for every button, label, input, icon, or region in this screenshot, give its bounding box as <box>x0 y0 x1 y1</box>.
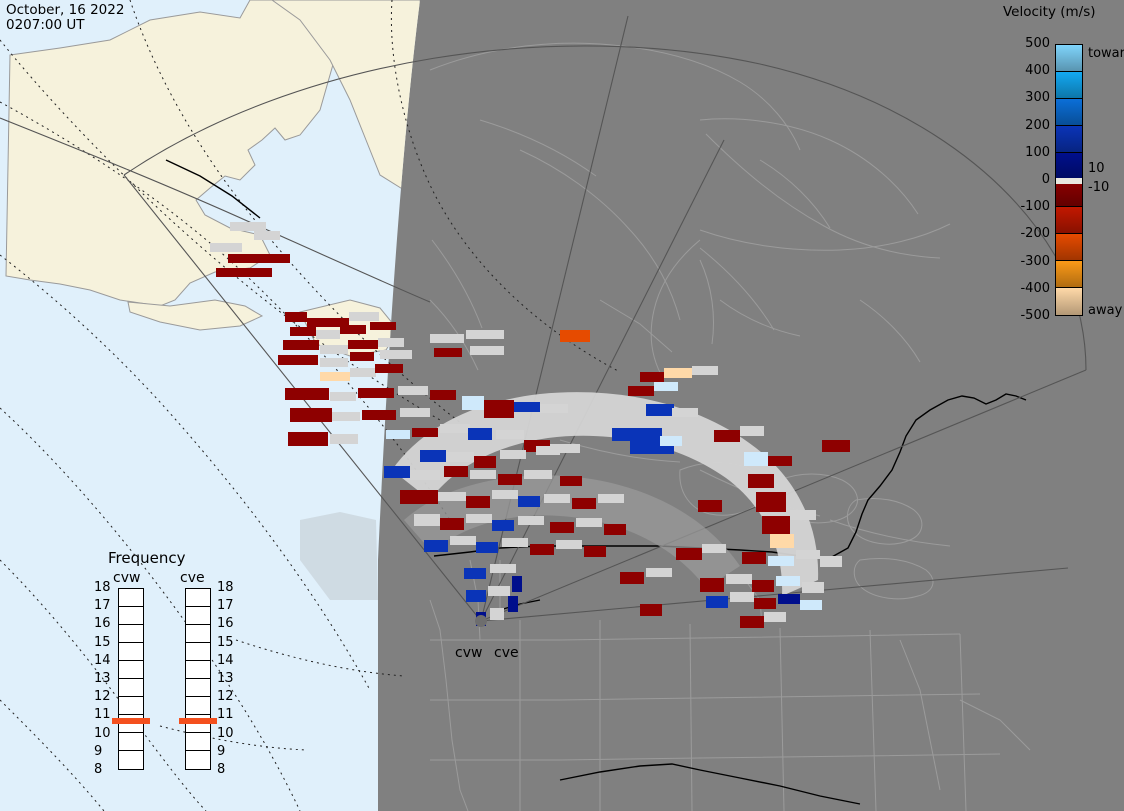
radar-cell <box>714 430 740 442</box>
radar-cell <box>730 592 754 602</box>
frequency-tick-cvw-9: 9 <box>94 744 102 759</box>
colorbar-band-0 <box>1056 45 1082 72</box>
colorbar-toward-label: toward <box>1088 46 1124 61</box>
frequency-tick-cve-9: 9 <box>217 744 225 759</box>
frequency-tick-cve-17: 17 <box>217 598 234 613</box>
radar-cell <box>288 432 328 446</box>
radar-cell <box>762 516 790 534</box>
radar-cell <box>362 410 396 420</box>
radar-cell <box>752 580 774 592</box>
radar-cell <box>776 576 800 586</box>
radar-cell <box>524 470 552 479</box>
radar-cell <box>598 494 624 503</box>
radar-cell <box>492 490 518 499</box>
radar-cell <box>400 490 438 504</box>
radar-cell <box>283 340 319 350</box>
radar-cell <box>676 548 702 560</box>
radar-cell <box>768 456 792 466</box>
radar-cell <box>640 604 662 616</box>
radar-cell <box>544 494 570 503</box>
colorbar-tick-400: 400 <box>1008 63 1050 78</box>
frequency-segment <box>186 643 210 661</box>
radar-cell <box>612 428 662 441</box>
colorbar-tick-500: 500 <box>1008 36 1050 51</box>
radar-site-label-cve: cve <box>494 645 519 661</box>
radar-cell <box>502 538 528 547</box>
colorbar-tick-100: 100 <box>1008 145 1050 160</box>
colorbar-tick--200: -200 <box>1008 226 1050 241</box>
radar-cell <box>410 470 440 480</box>
colorbar-tick--100: -100 <box>1008 199 1050 214</box>
radar-site-dot <box>475 615 487 627</box>
radar-cell <box>692 366 718 375</box>
radar-cell <box>446 452 474 462</box>
frequency-tick-cvw-8: 8 <box>94 762 102 777</box>
frequency-segment <box>186 661 210 679</box>
frequency-tick-cvw-17: 17 <box>94 598 111 613</box>
radar-cell <box>820 556 842 567</box>
radar-cell <box>740 426 764 436</box>
radar-cell <box>468 428 492 440</box>
radar-cell <box>514 402 540 412</box>
frequency-tick-cve-16: 16 <box>217 616 234 631</box>
radar-cell <box>320 358 348 367</box>
radar-cell <box>778 594 800 604</box>
radar-cell <box>466 496 490 508</box>
frequency-bar-cve <box>185 588 211 770</box>
radar-cell <box>464 568 486 579</box>
radar-cell <box>640 372 664 382</box>
frequency-tick-cvw-13: 13 <box>94 671 111 686</box>
radar-cell <box>664 368 692 378</box>
radar-cell <box>350 368 376 377</box>
radar-cell <box>290 408 332 422</box>
radar-cell <box>512 576 522 592</box>
radar-cell <box>384 466 410 478</box>
frequency-legend-title: Frequency <box>108 549 186 567</box>
frequency-tick-cvw-14: 14 <box>94 653 111 668</box>
colorbar-band-9 <box>1056 288 1082 315</box>
radar-cell <box>462 396 484 410</box>
radar-cell <box>572 498 596 509</box>
colorbar-band-5 <box>1056 180 1082 207</box>
radar-cell <box>790 510 816 520</box>
radar-cell <box>654 382 678 391</box>
frequency-tick-cvw-18: 18 <box>94 580 111 595</box>
radar-cell <box>700 578 724 592</box>
radar-cell <box>380 350 412 359</box>
frequency-tick-cvw-15: 15 <box>94 635 111 650</box>
radar-cell <box>498 474 522 485</box>
radar-cell <box>496 430 524 439</box>
radar-cell <box>490 564 516 573</box>
frequency-marker-cvw <box>112 718 150 724</box>
radar-cell <box>796 550 820 559</box>
radar-cell <box>646 568 672 577</box>
frequency-segment <box>186 625 210 643</box>
radar-cell <box>802 582 824 593</box>
frequency-segment <box>119 661 143 679</box>
frequency-segment <box>119 679 143 697</box>
radar-cell <box>349 312 379 321</box>
radar-cell <box>744 452 768 466</box>
frequency-segment <box>119 625 143 643</box>
frequency-segment <box>186 733 210 751</box>
radar-cell <box>822 440 850 452</box>
radar-cell <box>490 608 504 620</box>
colorbar-tick-200: 200 <box>1008 118 1050 133</box>
radar-cell <box>742 552 766 564</box>
colorbar-band-6 <box>1056 207 1082 234</box>
frequency-bar-label-cvw: cvw <box>113 570 140 586</box>
radar-cell <box>230 222 266 231</box>
radar-velocity-map: October, 16 2022 0207:00 UT Velocity (m/… <box>0 0 1124 811</box>
radar-cell <box>706 596 728 608</box>
radar-cell <box>536 446 560 455</box>
frequency-segment <box>186 589 210 607</box>
radar-cell <box>434 348 462 357</box>
frequency-segment <box>186 607 210 625</box>
radar-cell <box>768 556 794 566</box>
radar-cell <box>500 450 526 459</box>
radar-cell <box>660 436 682 446</box>
colorbar-band-8 <box>1056 261 1082 288</box>
frequency-bar-label-cve: cve <box>180 570 205 586</box>
radar-cell <box>770 534 794 548</box>
frequency-tick-cvw-12: 12 <box>94 689 111 704</box>
radar-cell <box>290 327 316 336</box>
radar-cell <box>228 254 290 263</box>
colorbar-band-7 <box>1056 234 1082 261</box>
frequency-segment <box>119 607 143 625</box>
frequency-segment <box>186 679 210 697</box>
frequency-tick-cvw-10: 10 <box>94 726 111 741</box>
radar-cell <box>320 372 350 381</box>
radar-cell <box>412 428 438 437</box>
radar-cell <box>476 542 498 553</box>
radar-cell <box>702 544 726 553</box>
radar-cell <box>518 496 540 507</box>
frequency-segment <box>186 697 210 715</box>
radar-cell <box>440 518 464 530</box>
radar-cell <box>320 345 348 354</box>
radar-cell <box>646 404 674 416</box>
radar-site-label-cvw: cvw <box>455 645 482 661</box>
radar-cell <box>470 470 496 479</box>
radar-cell <box>316 330 340 339</box>
radar-cell <box>518 516 544 525</box>
colorbar-tick--400: -400 <box>1008 281 1050 296</box>
radar-cell <box>358 388 394 398</box>
radar-cell <box>672 408 698 417</box>
radar-cell <box>330 392 356 401</box>
radar-cell <box>440 424 470 433</box>
radar-cell <box>540 404 568 413</box>
radar-cell <box>332 412 360 421</box>
radar-cell <box>466 330 504 339</box>
time-label: 0207:00 UT <box>6 17 85 33</box>
radar-cell <box>556 540 582 549</box>
radar-cell <box>400 408 430 417</box>
radar-cell <box>330 434 358 444</box>
radar-cell <box>740 616 764 628</box>
colorbar-band-1 <box>1056 72 1082 99</box>
radar-cell <box>210 243 242 252</box>
colorbar-tick-0: 0 <box>1008 172 1050 187</box>
radar-cell <box>350 352 374 361</box>
radar-cell <box>474 456 496 468</box>
radar-cell <box>800 600 822 610</box>
colorbar-zero-band <box>1055 178 1083 184</box>
frequency-tick-cve-15: 15 <box>217 635 234 650</box>
radar-cell <box>492 520 514 531</box>
radar-cell <box>560 330 590 342</box>
radar-cell <box>430 390 456 400</box>
frequency-tick-cve-18: 18 <box>217 580 234 595</box>
frequency-segment <box>119 751 143 769</box>
colorbar-lower-threshold: -10 <box>1088 180 1109 195</box>
radar-cell <box>584 546 606 557</box>
frequency-bar-cvw <box>118 588 144 770</box>
radar-cell <box>698 500 722 512</box>
radar-cell <box>488 586 510 596</box>
radar-cell <box>370 322 396 330</box>
frequency-tick-cvw-16: 16 <box>94 616 111 631</box>
colorbar-upper-threshold: 10 <box>1088 161 1105 176</box>
radar-cell <box>438 492 466 501</box>
colorbar-tick--300: -300 <box>1008 254 1050 269</box>
radar-cell <box>484 400 514 418</box>
frequency-tick-cve-10: 10 <box>217 726 234 741</box>
radar-cell <box>576 518 602 527</box>
radar-cell <box>754 598 776 609</box>
radar-cell <box>466 590 486 602</box>
radar-cell <box>254 231 280 240</box>
frequency-tick-cvw-11: 11 <box>94 707 111 722</box>
colorbar-band-2 <box>1056 99 1082 126</box>
colorbar-away-label: away <box>1088 303 1122 318</box>
frequency-segment <box>119 589 143 607</box>
radar-cell <box>285 312 307 322</box>
frequency-tick-cve-12: 12 <box>217 689 234 704</box>
colorbar-tick--500: -500 <box>1008 308 1050 323</box>
radar-cell <box>560 476 582 486</box>
radar-cell <box>386 430 410 439</box>
radar-cell <box>216 268 272 277</box>
radar-cell <box>375 364 403 373</box>
radar-cell <box>424 540 448 552</box>
radar-cell <box>620 572 644 584</box>
colorbar-tick-300: 300 <box>1008 90 1050 105</box>
colorbar-title: Velocity (m/s) <box>1003 4 1096 20</box>
radar-cell <box>508 596 518 612</box>
radar-cell <box>530 544 554 555</box>
radar-cell <box>414 514 440 526</box>
radar-cell <box>470 346 504 355</box>
frequency-segment <box>186 751 210 769</box>
radar-cell <box>756 492 786 512</box>
frequency-tick-cve-14: 14 <box>217 653 234 668</box>
radar-cell <box>340 325 366 334</box>
radar-cell <box>450 536 476 545</box>
radar-cell <box>466 514 492 523</box>
radar-cell <box>550 522 574 533</box>
radar-cell <box>430 334 464 343</box>
colorbar-band-3 <box>1056 126 1082 153</box>
frequency-tick-cve-11: 11 <box>217 707 234 722</box>
colorbar-band-4 <box>1056 153 1082 180</box>
radar-cell <box>378 338 404 347</box>
radar-cell <box>628 386 654 396</box>
frequency-segment <box>119 697 143 715</box>
frequency-tick-cve-13: 13 <box>217 671 234 686</box>
radar-cell <box>444 466 468 477</box>
radar-cell <box>285 388 329 400</box>
frequency-tick-cve-8: 8 <box>217 762 225 777</box>
frequency-segment <box>119 643 143 661</box>
day-region <box>0 0 430 811</box>
radar-cell <box>748 474 774 488</box>
radar-cell <box>726 574 752 584</box>
radar-cell <box>278 355 318 365</box>
timestamp-block: October, 16 2022 0207:00 UT <box>6 3 124 32</box>
radar-cell <box>398 386 428 395</box>
frequency-marker-cve <box>179 718 217 724</box>
frequency-segment <box>119 733 143 751</box>
radar-cell <box>604 524 626 535</box>
map-canvas <box>0 0 1124 811</box>
radar-cell <box>420 450 446 462</box>
radar-cell <box>348 340 378 349</box>
radar-cell <box>764 612 786 622</box>
